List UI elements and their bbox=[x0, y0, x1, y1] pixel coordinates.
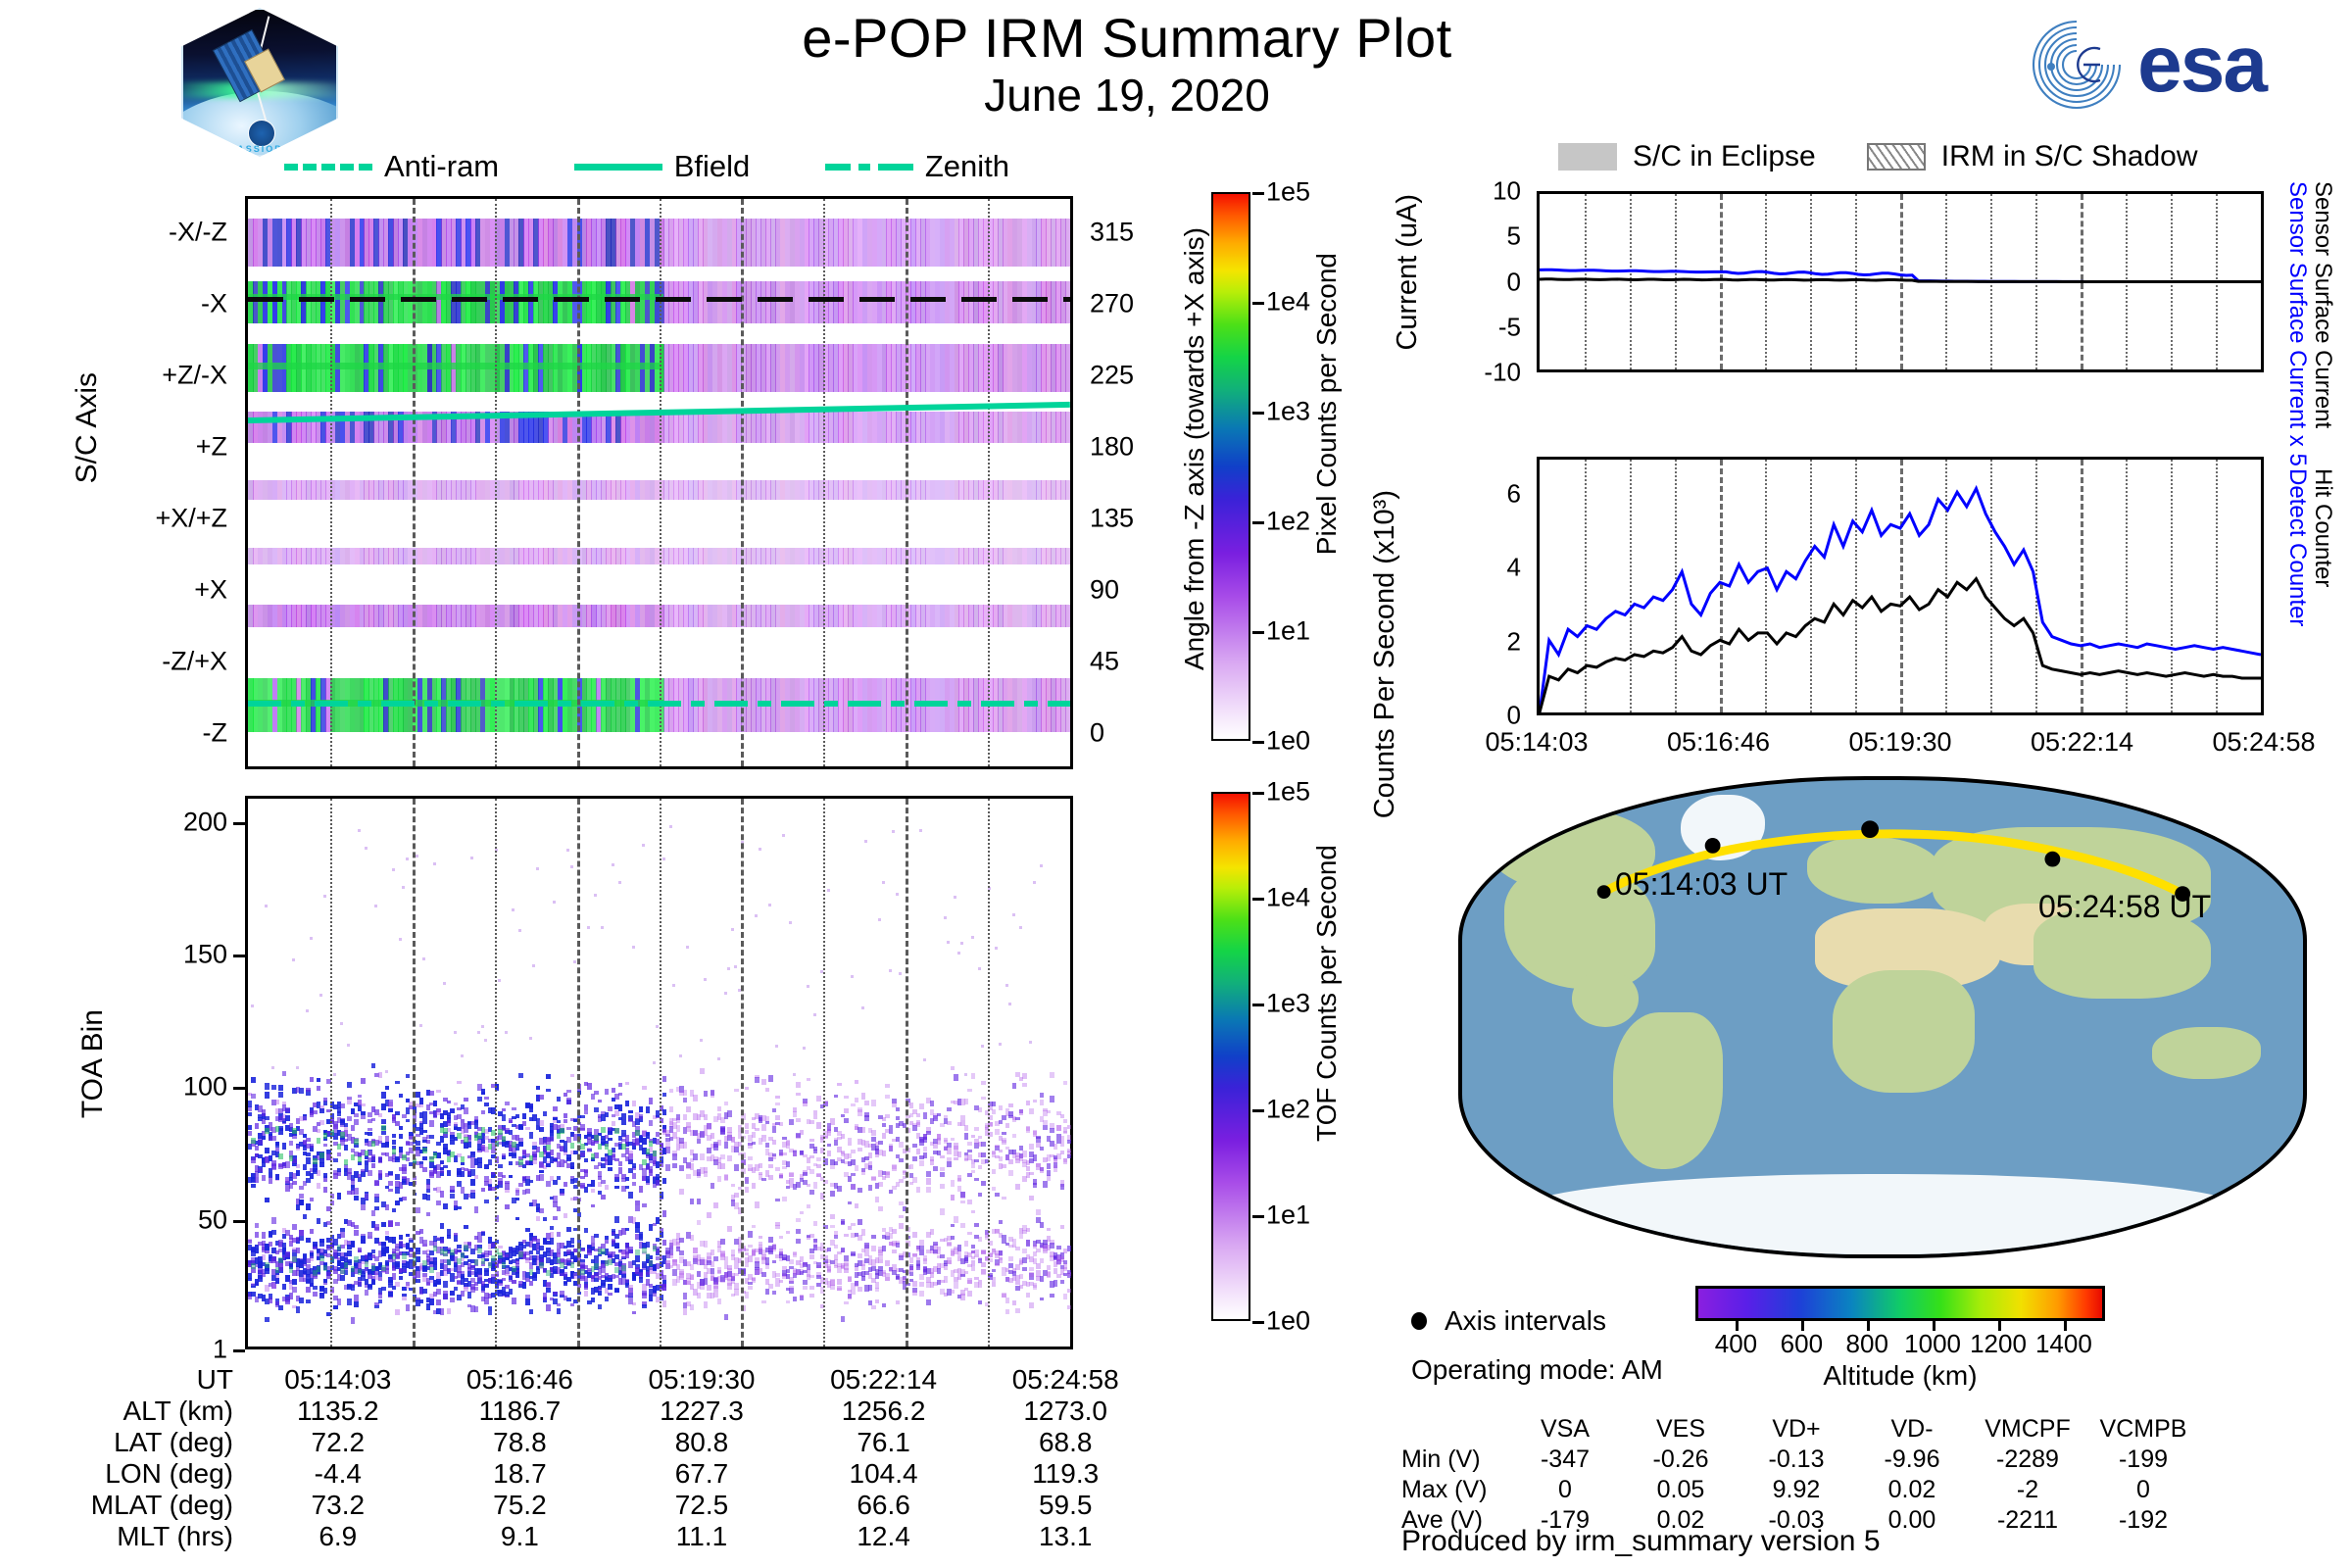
colorbar-tick bbox=[1252, 412, 1264, 415]
toa-point bbox=[628, 1151, 632, 1157]
toa-point bbox=[399, 1147, 403, 1152]
toa-point bbox=[525, 1189, 529, 1194]
toa-point bbox=[800, 1211, 804, 1215]
colorbar-tick bbox=[1252, 302, 1264, 305]
toa-point bbox=[282, 1284, 286, 1290]
toa-point bbox=[546, 1089, 550, 1093]
spectrogram-column bbox=[1065, 605, 1070, 627]
toa-point bbox=[580, 1152, 584, 1155]
toa-point bbox=[981, 1181, 985, 1186]
toa-point bbox=[454, 1235, 458, 1242]
toa-point bbox=[755, 1201, 759, 1208]
toa-point bbox=[525, 1127, 529, 1131]
toa-point bbox=[484, 1298, 488, 1304]
toa-point bbox=[844, 1261, 848, 1266]
toa-point bbox=[488, 1159, 492, 1166]
toa-point bbox=[992, 1282, 996, 1287]
toa-point bbox=[851, 1173, 855, 1176]
toa-point bbox=[690, 1304, 694, 1310]
gridline bbox=[577, 199, 580, 766]
toa-point bbox=[713, 1292, 717, 1298]
toa-point bbox=[385, 1231, 389, 1235]
toa-point bbox=[477, 1238, 481, 1243]
toa-point bbox=[323, 1288, 327, 1294]
toa-point bbox=[632, 1163, 636, 1168]
toa-point bbox=[505, 1183, 509, 1190]
toa-point bbox=[752, 1277, 756, 1283]
toa-point bbox=[662, 1240, 666, 1247]
toa-point bbox=[649, 1098, 653, 1104]
toa-point bbox=[954, 1157, 957, 1160]
toa-point bbox=[296, 1248, 300, 1253]
toa-point bbox=[974, 1178, 978, 1181]
toa-point bbox=[378, 1156, 382, 1163]
toa-point bbox=[807, 1204, 810, 1208]
toa-point bbox=[957, 1250, 961, 1256]
toa-point bbox=[543, 1111, 547, 1116]
toa-point bbox=[899, 1179, 903, 1183]
toa-point bbox=[734, 1164, 738, 1171]
toa-point bbox=[882, 1151, 886, 1156]
toa-point bbox=[354, 1295, 358, 1301]
toa-point bbox=[529, 1132, 533, 1139]
toa-point bbox=[809, 1190, 813, 1195]
toa-point bbox=[679, 1269, 683, 1276]
toa-point bbox=[395, 1081, 399, 1085]
toa-point bbox=[1008, 1103, 1012, 1107]
pixel-colorbar-ticklabel: 1e1 bbox=[1266, 616, 1310, 647]
toa-point bbox=[251, 1077, 255, 1083]
toa-point bbox=[454, 1287, 458, 1291]
toa-point bbox=[779, 1249, 783, 1254]
toa-point bbox=[450, 1298, 454, 1303]
toa-point bbox=[426, 1184, 430, 1191]
toa-point bbox=[354, 1113, 358, 1117]
toa-point bbox=[796, 1229, 800, 1235]
toa-point bbox=[248, 1273, 252, 1279]
toa-point bbox=[436, 1142, 440, 1145]
toa-point bbox=[457, 1206, 461, 1209]
toa-point bbox=[834, 1140, 838, 1146]
toa-point bbox=[454, 1122, 458, 1126]
toa-point bbox=[916, 1264, 920, 1270]
spectrogram-column bbox=[1065, 281, 1070, 323]
toa-point bbox=[557, 1232, 561, 1237]
toa-point bbox=[358, 829, 361, 832]
toa-point bbox=[1019, 1109, 1023, 1115]
toa-point bbox=[923, 1152, 927, 1158]
toa-point bbox=[347, 1250, 351, 1257]
toa-point bbox=[522, 1121, 526, 1126]
toa-point bbox=[759, 1172, 762, 1175]
toa-point bbox=[1012, 1134, 1016, 1138]
anti-ram-line bbox=[248, 297, 1070, 302]
toa-point bbox=[255, 1146, 259, 1151]
spectrogram-column bbox=[1065, 480, 1070, 500]
toa-point bbox=[546, 1304, 550, 1311]
toa-point bbox=[995, 1263, 999, 1266]
toa-point bbox=[584, 1228, 588, 1232]
toa-point bbox=[515, 1260, 519, 1264]
toa-point bbox=[402, 1197, 406, 1200]
toa-point bbox=[419, 1229, 423, 1234]
toa-point bbox=[461, 1054, 464, 1057]
toa-point bbox=[529, 1105, 533, 1112]
toa-point bbox=[1015, 1308, 1019, 1314]
toa-point bbox=[323, 895, 326, 898]
toa-point bbox=[313, 1110, 317, 1114]
toa-point bbox=[662, 1109, 666, 1116]
toa-point bbox=[525, 1228, 529, 1232]
toa-point bbox=[700, 1068, 704, 1074]
toa-point bbox=[885, 1277, 889, 1281]
toa-point bbox=[484, 1270, 488, 1275]
toa-point bbox=[505, 1031, 508, 1034]
toa-point bbox=[461, 1187, 465, 1194]
toa-point bbox=[388, 1181, 392, 1186]
toa-point bbox=[944, 916, 947, 919]
toa-point bbox=[871, 1235, 875, 1239]
toa-point bbox=[748, 1286, 752, 1289]
toa-point bbox=[841, 1316, 845, 1322]
toa-point bbox=[844, 1255, 848, 1261]
toa-point bbox=[745, 1263, 749, 1266]
toa-point bbox=[981, 1262, 985, 1267]
toa-point bbox=[422, 1130, 426, 1133]
toa-point bbox=[443, 1165, 447, 1168]
toa-point bbox=[782, 1152, 786, 1155]
toa-point bbox=[954, 1074, 957, 1081]
toa-point bbox=[566, 849, 569, 852]
toa-point bbox=[512, 1153, 515, 1157]
toa-point bbox=[422, 1240, 426, 1247]
toa-point bbox=[378, 1299, 382, 1303]
spectrogram-y2tick: 225 bbox=[1090, 360, 1134, 390]
toa-point bbox=[381, 1119, 385, 1123]
toa-point bbox=[337, 1152, 341, 1156]
toa-point bbox=[960, 1223, 964, 1228]
toa-point bbox=[563, 1113, 567, 1118]
toa-point bbox=[550, 1226, 554, 1230]
gridline bbox=[906, 199, 908, 766]
toa-point bbox=[662, 1178, 666, 1185]
toa-point bbox=[347, 1044, 350, 1047]
toa-point bbox=[399, 1094, 403, 1099]
toa-point bbox=[512, 1298, 515, 1304]
toa-point bbox=[796, 1182, 800, 1188]
toa-point bbox=[844, 1096, 848, 1099]
toa-point bbox=[951, 1138, 955, 1142]
toa-point bbox=[857, 1253, 861, 1258]
gridline bbox=[495, 199, 497, 766]
toa-point bbox=[289, 1141, 293, 1146]
colorbar-tick bbox=[1252, 631, 1264, 634]
toa-point bbox=[429, 1298, 433, 1305]
toa-point bbox=[789, 1119, 793, 1125]
toa-point bbox=[960, 1290, 964, 1296]
toa-point bbox=[717, 1140, 721, 1147]
toa-point bbox=[388, 1292, 392, 1297]
toa-point bbox=[580, 1115, 584, 1119]
toa-point bbox=[351, 1179, 355, 1183]
gridline bbox=[741, 199, 744, 766]
toa-point bbox=[851, 1289, 855, 1295]
toa-point bbox=[285, 1107, 289, 1112]
toa-point bbox=[878, 1141, 882, 1145]
toa-point bbox=[851, 1223, 855, 1226]
toa-point bbox=[628, 1291, 632, 1296]
toa-point bbox=[639, 1106, 643, 1111]
toa-point bbox=[319, 1108, 323, 1112]
toa-point bbox=[971, 1073, 975, 1079]
toa-point bbox=[954, 1282, 957, 1289]
toa-point bbox=[964, 1099, 968, 1104]
toa-point bbox=[498, 1178, 502, 1185]
toa-point bbox=[809, 1155, 813, 1159]
toa-point bbox=[951, 1224, 955, 1227]
toa-point bbox=[871, 1100, 875, 1106]
toa-point bbox=[632, 1302, 636, 1305]
toa-point bbox=[628, 1110, 632, 1113]
toa-point bbox=[351, 1242, 355, 1248]
toa-point bbox=[587, 1083, 591, 1090]
toa-point bbox=[553, 1292, 557, 1295]
toa-point bbox=[912, 1177, 916, 1183]
toa-point bbox=[436, 1299, 440, 1305]
toa-point bbox=[848, 1153, 852, 1159]
toa-point bbox=[419, 1123, 423, 1129]
toa-point bbox=[662, 857, 665, 860]
spectrogram-column bbox=[1065, 412, 1070, 443]
toa-point bbox=[837, 1186, 841, 1193]
toa-point bbox=[964, 1241, 968, 1248]
toa-point bbox=[450, 1194, 454, 1200]
toa-point bbox=[800, 1130, 804, 1136]
toa-point bbox=[816, 1096, 820, 1101]
toa-point bbox=[786, 1141, 790, 1146]
toa-point bbox=[851, 1185, 855, 1189]
toa-point bbox=[474, 1120, 478, 1125]
toa-point bbox=[978, 1280, 982, 1285]
toa-point bbox=[365, 1194, 368, 1200]
toa-point bbox=[422, 1117, 426, 1124]
toa-point bbox=[419, 1299, 423, 1303]
toa-point bbox=[923, 1058, 926, 1061]
toa-point bbox=[1015, 1184, 1019, 1190]
toa-point bbox=[402, 1294, 406, 1298]
toa-point bbox=[710, 1249, 714, 1255]
toa-point bbox=[1008, 1003, 1011, 1005]
toa-point bbox=[940, 1184, 944, 1189]
spectrogram-column bbox=[1065, 548, 1070, 564]
toa-point bbox=[354, 1119, 358, 1125]
toa-point bbox=[525, 1298, 529, 1305]
toa-point bbox=[940, 1167, 944, 1171]
toa-point bbox=[710, 1133, 714, 1139]
toa-point bbox=[546, 1074, 550, 1079]
toa-point bbox=[899, 1158, 903, 1163]
toa-point bbox=[768, 1237, 772, 1243]
toa-point bbox=[639, 1234, 643, 1241]
toa-point bbox=[909, 1272, 913, 1276]
toa-point bbox=[940, 1254, 944, 1258]
toa-point bbox=[855, 1165, 858, 1171]
toa-point bbox=[378, 1293, 382, 1298]
toa-point bbox=[724, 1256, 728, 1262]
toa-point bbox=[255, 1223, 259, 1228]
toa-point bbox=[960, 1274, 964, 1277]
toa-point bbox=[896, 1116, 900, 1120]
toa-point bbox=[481, 1092, 485, 1095]
toa-point bbox=[299, 1088, 303, 1094]
toa-point bbox=[896, 1107, 900, 1111]
toa-point bbox=[748, 1245, 752, 1248]
toa-point bbox=[605, 1240, 609, 1244]
toa-point bbox=[734, 1089, 738, 1092]
toa-point bbox=[940, 1155, 944, 1158]
toa-point bbox=[518, 929, 521, 932]
toa-point bbox=[864, 1115, 868, 1121]
toa-point bbox=[608, 1138, 612, 1141]
toa-point bbox=[686, 1174, 690, 1179]
toa-point bbox=[669, 825, 672, 828]
toa-point bbox=[710, 1268, 714, 1274]
toa-point bbox=[557, 1176, 561, 1179]
toa-point bbox=[255, 1232, 259, 1238]
toa-point bbox=[807, 1269, 810, 1273]
toa-point bbox=[498, 1164, 502, 1168]
toa-point bbox=[388, 1220, 392, 1227]
toa-point bbox=[1005, 984, 1008, 987]
toa-point bbox=[265, 905, 268, 907]
toa-point bbox=[262, 1232, 266, 1239]
toa-point bbox=[255, 1123, 259, 1128]
toa-point bbox=[789, 1286, 793, 1291]
toa-point bbox=[926, 1299, 930, 1305]
toa-point bbox=[679, 1238, 683, 1243]
toa-point bbox=[834, 1231, 838, 1236]
toa-point bbox=[892, 1102, 896, 1106]
toa-point bbox=[809, 1275, 813, 1279]
toa-point bbox=[395, 1121, 399, 1126]
toa-point bbox=[563, 1093, 567, 1097]
toa-point bbox=[690, 1235, 694, 1242]
toa-point bbox=[371, 1163, 375, 1167]
toa-point bbox=[262, 1175, 266, 1181]
toa-point bbox=[333, 1305, 337, 1309]
toa-point bbox=[1019, 1285, 1023, 1289]
toa-point bbox=[704, 1301, 708, 1308]
toa-point bbox=[306, 1238, 310, 1244]
toa-point bbox=[851, 1159, 855, 1165]
toa-point bbox=[981, 1152, 985, 1157]
toa-point bbox=[951, 1180, 955, 1187]
toa-point bbox=[313, 1292, 317, 1297]
toa-point bbox=[755, 1077, 759, 1083]
toa-point bbox=[855, 1098, 858, 1102]
esa-logo: esa bbox=[2026, 10, 2266, 120]
toa-point bbox=[570, 1162, 574, 1169]
toa-point bbox=[426, 1212, 430, 1215]
toa-point bbox=[642, 1203, 646, 1207]
toa-point bbox=[502, 1108, 506, 1111]
toa-point bbox=[296, 1066, 299, 1069]
toa-point bbox=[361, 1115, 365, 1119]
toa-point bbox=[271, 1217, 275, 1224]
toa-point bbox=[1019, 926, 1022, 929]
toa-point bbox=[848, 1276, 852, 1282]
toa-point bbox=[710, 1090, 714, 1097]
toa-point bbox=[608, 1131, 612, 1134]
toa-point bbox=[474, 1206, 478, 1213]
toa-point bbox=[563, 1182, 567, 1187]
toa-point bbox=[816, 1262, 820, 1269]
toa-point bbox=[923, 1112, 927, 1118]
toa-point bbox=[618, 1104, 622, 1110]
toa-point bbox=[761, 1300, 765, 1304]
toa-point bbox=[470, 1193, 474, 1200]
toa-point bbox=[614, 1216, 618, 1222]
toa-point bbox=[255, 1177, 259, 1183]
toa-point bbox=[1022, 1151, 1026, 1157]
toa-point bbox=[803, 1172, 807, 1176]
toa-point bbox=[546, 1282, 550, 1287]
toa-point bbox=[443, 982, 446, 985]
toa-point bbox=[768, 1175, 772, 1180]
toa-point bbox=[454, 1233, 458, 1236]
toa-point bbox=[529, 1250, 533, 1254]
toa-point bbox=[759, 1236, 762, 1239]
toa-point bbox=[851, 1251, 855, 1255]
toa-point bbox=[570, 865, 573, 868]
toa-point bbox=[813, 1221, 817, 1226]
toa-point bbox=[365, 1290, 368, 1296]
toa-point bbox=[964, 1073, 967, 1076]
toa-point bbox=[1012, 1300, 1016, 1305]
toa-point bbox=[679, 1165, 683, 1172]
toa-point bbox=[450, 1186, 454, 1192]
toa-point bbox=[306, 1157, 310, 1164]
toa-point bbox=[724, 1142, 728, 1148]
toa-point bbox=[464, 1107, 467, 1113]
toa-point bbox=[347, 1097, 351, 1101]
toa-point bbox=[347, 1298, 351, 1305]
toa-point bbox=[1008, 1170, 1012, 1176]
toa-point bbox=[1005, 1298, 1009, 1303]
toa-point bbox=[899, 972, 902, 975]
toa-point bbox=[896, 1243, 900, 1248]
toa-point bbox=[857, 1219, 861, 1225]
toa-point bbox=[367, 1236, 371, 1239]
toa-point bbox=[628, 1285, 632, 1289]
toa-point bbox=[632, 1101, 636, 1106]
toa-point bbox=[765, 1121, 769, 1125]
toa-point bbox=[374, 1206, 378, 1209]
toa-point bbox=[354, 1301, 358, 1307]
toa-point bbox=[605, 1297, 609, 1301]
toa-point bbox=[361, 1240, 365, 1244]
toa-point bbox=[512, 908, 514, 911]
toa-point bbox=[278, 1085, 282, 1091]
toa-point bbox=[388, 1108, 392, 1112]
toa-point bbox=[882, 1303, 886, 1307]
toa-point bbox=[539, 1170, 543, 1174]
toa-point bbox=[889, 1129, 893, 1134]
toa-point bbox=[536, 1086, 540, 1090]
toa-point bbox=[1002, 1164, 1005, 1169]
toa-point bbox=[971, 1266, 975, 1271]
toa-point bbox=[868, 1165, 872, 1169]
